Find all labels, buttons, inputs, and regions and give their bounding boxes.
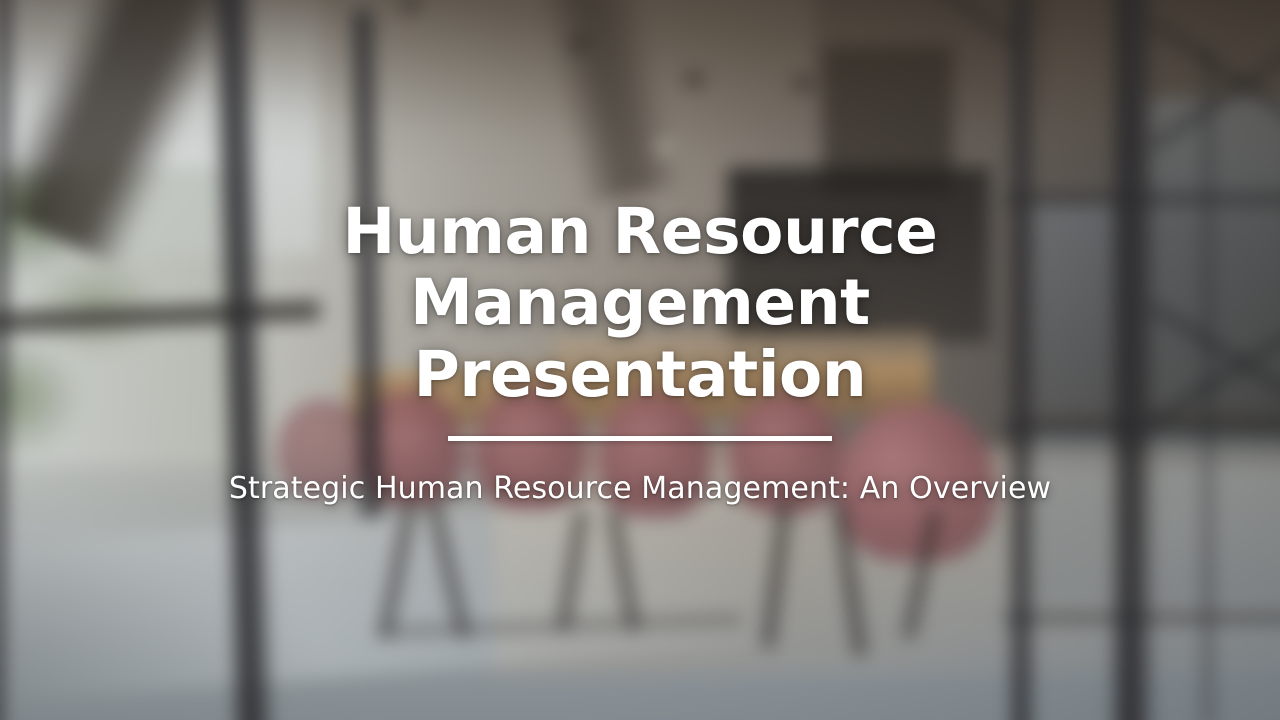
title-line-1: Human Resource Management — [343, 195, 938, 339]
title-line-2: Presentation — [414, 338, 867, 411]
title-divider — [448, 436, 832, 441]
page-title: Human Resource Management Presentation — [160, 196, 1120, 410]
slide-subtitle: Strategic Human Resource Management: An … — [160, 469, 1120, 508]
slide-content-overlay: Human Resource Management Presentation S… — [0, 0, 1280, 720]
presentation-title-slide: Human Resource Management Presentation S… — [0, 0, 1280, 720]
title-block: Human Resource Management Presentation S… — [160, 196, 1120, 508]
